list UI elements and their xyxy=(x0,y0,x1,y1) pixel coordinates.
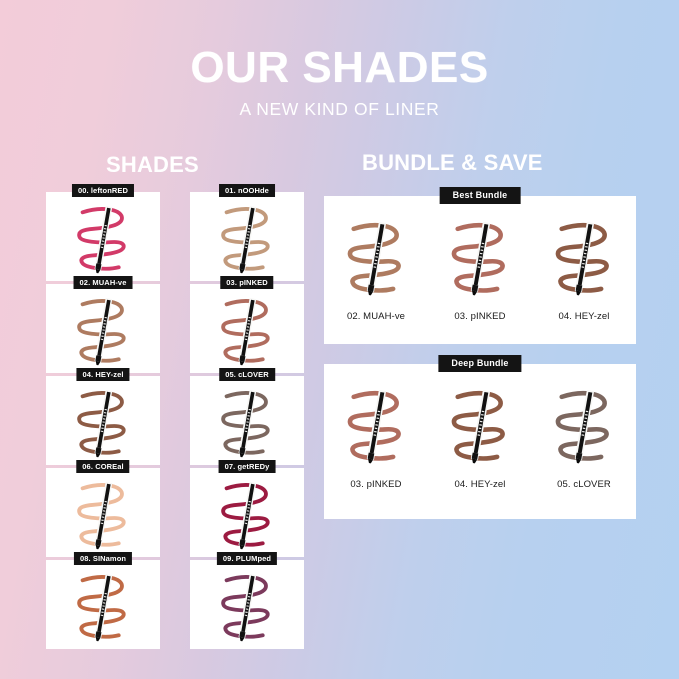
bundle-swatch xyxy=(327,374,425,478)
bundle-item[interactable]: 03. pINKED xyxy=(431,206,529,322)
shade-swatch xyxy=(190,284,304,373)
liner-pencil-icon xyxy=(238,481,256,549)
bundle-item[interactable]: 02. MUAH-ve xyxy=(327,206,425,322)
bundle-panel-best[interactable]: Best Bundle 02. MUAH-ve xyxy=(324,196,636,344)
bundle-item[interactable]: 03. pINKED xyxy=(327,374,425,490)
bundle-tag-best: Best Bundle xyxy=(440,187,521,204)
bundle-panel-deep[interactable]: Deep Bundle 03. pINKED xyxy=(324,364,636,519)
swatch-scribble-icon xyxy=(328,206,424,310)
bundle-items-deep: 03. pINKED 04. HEY-zel xyxy=(324,374,636,490)
shade-swatch xyxy=(46,560,160,649)
shade-card[interactable]: 02. MUAH-ve xyxy=(46,284,160,373)
shade-label: 09. PLUMped xyxy=(217,552,277,565)
liner-pencil-icon xyxy=(238,297,256,365)
liner-pencil-icon xyxy=(238,205,256,273)
liner-pencil-icon xyxy=(238,389,256,457)
shade-label: 07. getREDy xyxy=(219,460,276,473)
bundle-item-label: 03. pINKED xyxy=(431,312,529,322)
bundle-swatch xyxy=(535,374,633,478)
shade-swatch xyxy=(46,468,160,557)
swatch-scribble-icon xyxy=(203,569,291,645)
shade-label: 00. leftonRED xyxy=(72,184,134,197)
bundle-item[interactable]: 04. HEY-zel xyxy=(535,206,633,322)
bundle-item-label: 02. MUAH-ve xyxy=(327,312,425,322)
swatch-scribble-icon xyxy=(203,293,291,369)
bundle-swatch xyxy=(535,206,633,310)
shade-label: 02. MUAH-ve xyxy=(74,276,133,289)
swatch-scribble-icon xyxy=(432,206,528,310)
liner-pencil-icon xyxy=(574,390,594,464)
swatch-scribble-icon xyxy=(59,293,147,369)
liner-pencil-icon xyxy=(366,222,386,296)
swatch-scribble-icon xyxy=(59,201,147,277)
bundle-item[interactable]: 04. HEY-zel xyxy=(431,374,529,490)
liner-pencil-icon xyxy=(94,573,112,641)
bundle-item[interactable]: 05. cLOVER xyxy=(535,374,633,490)
swatch-scribble-icon xyxy=(536,374,632,478)
shade-card[interactable]: 01. nOOHde xyxy=(190,192,304,281)
shade-swatch xyxy=(190,468,304,557)
bundle-swatch xyxy=(327,206,425,310)
liner-pencil-icon xyxy=(470,390,490,464)
shades-section-heading: SHADES xyxy=(106,154,199,176)
shade-card[interactable]: 05. cLOVER xyxy=(190,376,304,465)
shade-label: 05. cLOVER xyxy=(219,368,275,381)
liner-pencil-icon xyxy=(470,222,490,296)
shade-card[interactable]: 08. SINamon xyxy=(46,560,160,649)
bundle-tag-deep: Deep Bundle xyxy=(438,355,521,372)
swatch-scribble-icon xyxy=(203,385,291,461)
swatch-scribble-icon xyxy=(432,374,528,478)
liner-pencil-icon xyxy=(94,297,112,365)
liner-pencil-icon xyxy=(94,481,112,549)
liner-pencil-icon xyxy=(238,573,256,641)
shade-swatch xyxy=(46,284,160,373)
swatch-scribble-icon xyxy=(328,374,424,478)
shade-card[interactable]: 06. COREal xyxy=(46,468,160,557)
bundle-section-heading: BUNDLE & SAVE xyxy=(362,152,543,174)
swatch-scribble-icon xyxy=(59,477,147,553)
liner-pencil-icon xyxy=(366,390,386,464)
swatch-scribble-icon xyxy=(536,206,632,310)
shade-label: 04. HEY-zel xyxy=(76,368,129,381)
swatch-scribble-icon xyxy=(203,201,291,277)
page-subtitle: A NEW KIND OF LINER xyxy=(0,101,679,119)
shade-label: 03. pINKED xyxy=(220,276,273,289)
shade-card[interactable]: 09. PLUMped xyxy=(190,560,304,649)
swatch-scribble-icon xyxy=(59,569,147,645)
liner-pencil-icon xyxy=(94,205,112,273)
shade-card[interactable]: 04. HEY-zel xyxy=(46,376,160,465)
swatch-scribble-icon xyxy=(59,385,147,461)
shade-label: 01. nOOHde xyxy=(219,184,275,197)
shade-card[interactable]: 00. leftonRED xyxy=(46,192,160,281)
bundle-item-label: 03. pINKED xyxy=(327,480,425,490)
shade-card[interactable]: 07. getREDy xyxy=(190,468,304,557)
page-title: OUR SHADES xyxy=(0,46,679,90)
shade-swatch xyxy=(46,376,160,465)
bundle-item-label: 04. HEY-zel xyxy=(431,480,529,490)
shade-label: 06. COREal xyxy=(76,460,129,473)
shade-swatch xyxy=(190,192,304,281)
bundle-item-label: 05. cLOVER xyxy=(535,480,633,490)
liner-pencil-icon xyxy=(94,389,112,457)
shade-swatch xyxy=(190,560,304,649)
shade-card[interactable]: 03. pINKED xyxy=(190,284,304,373)
bundle-swatch xyxy=(431,206,529,310)
page-header: OUR SHADES A NEW KIND OF LINER xyxy=(0,46,679,119)
shade-swatch xyxy=(190,376,304,465)
bundle-item-label: 04. HEY-zel xyxy=(535,312,633,322)
shades-grid: 00. leftonRED 01. nOOHde xyxy=(46,192,304,649)
swatch-scribble-icon xyxy=(203,477,291,553)
bundle-swatch xyxy=(431,374,529,478)
bundle-items-best: 02. MUAH-ve 03. pINKED xyxy=(324,206,636,322)
liner-pencil-icon xyxy=(574,222,594,296)
shade-label: 08. SINamon xyxy=(74,552,132,565)
shade-swatch xyxy=(46,192,160,281)
